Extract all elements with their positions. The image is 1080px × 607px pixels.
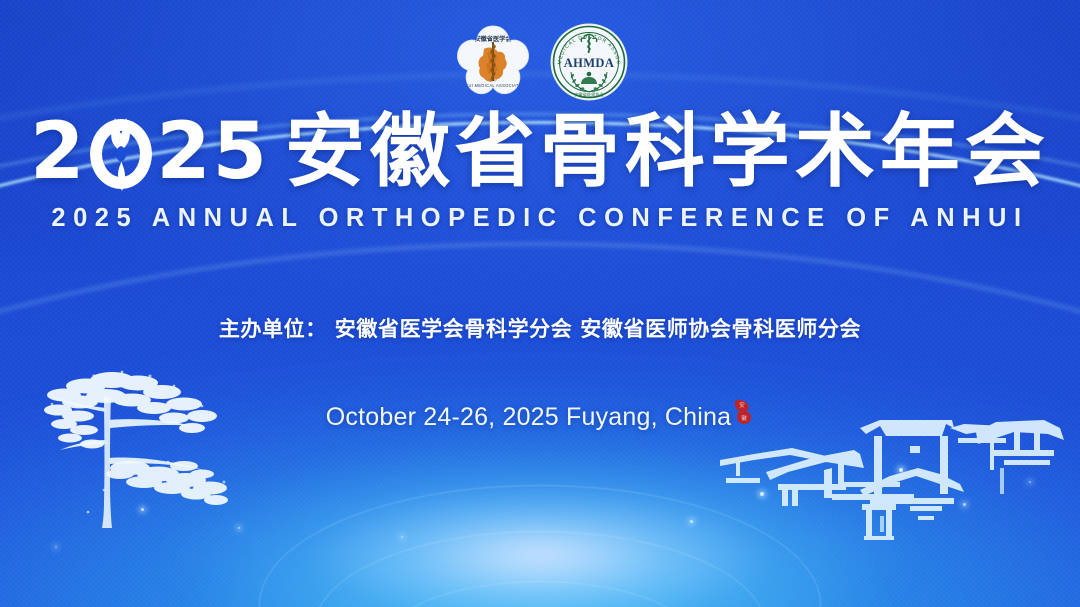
svg-text:安徽省医师协会: 安徽省医师协会 [574, 91, 604, 98]
anhui-medical-association-logo: 安徽省医学会 ANHUI MEDICAL ASSOCIATION 1947 [451, 23, 535, 101]
main-title: 2 25 安 [0, 112, 1080, 192]
sparkle-dot [55, 546, 57, 548]
event-date-location: October 24-26, 2025 Fuyang, China [326, 403, 731, 432]
hip-implant-bone-icon [88, 116, 154, 192]
hui-style-architecture-illustration [714, 398, 1064, 553]
organizer-line: 主办单位： 安徽省医学会骨科学分会 安徽省医师协会骨科医师分会 [0, 313, 1080, 343]
sparkle-dot [690, 520, 693, 523]
sparkle-dot [401, 536, 403, 538]
conference-poster: 安徽省医学会 ANHUI MEDICAL ASSOCIATION 1947 [0, 0, 1080, 607]
anhui-medical-doctor-association-logo: ANHUI MEDICAL DOCTOR ASSOCIATION AHMDA [549, 22, 629, 102]
title-year-prefix: 2 [30, 113, 86, 191]
svg-text:1947: 1947 [489, 79, 497, 83]
title-chinese: 安徽省骨科学术年会 [285, 112, 1050, 192]
huangshan-welcoming-pine-illustration [34, 362, 278, 545]
svg-text:AHMDA: AHMDA [564, 56, 615, 70]
organizer-logos: 安徽省医学会 ANHUI MEDICAL ASSOCIATION 1947 [0, 22, 1080, 102]
title-block: 2 25 安 [0, 112, 1080, 233]
svg-text:安徽省医学会: 安徽省医学会 [474, 35, 512, 43]
title-english: 2025 ANNUAL ORTHOPEDIC CONFERENCE OF ANH… [0, 204, 1080, 233]
title-year-suffix: 25 [156, 113, 269, 191]
